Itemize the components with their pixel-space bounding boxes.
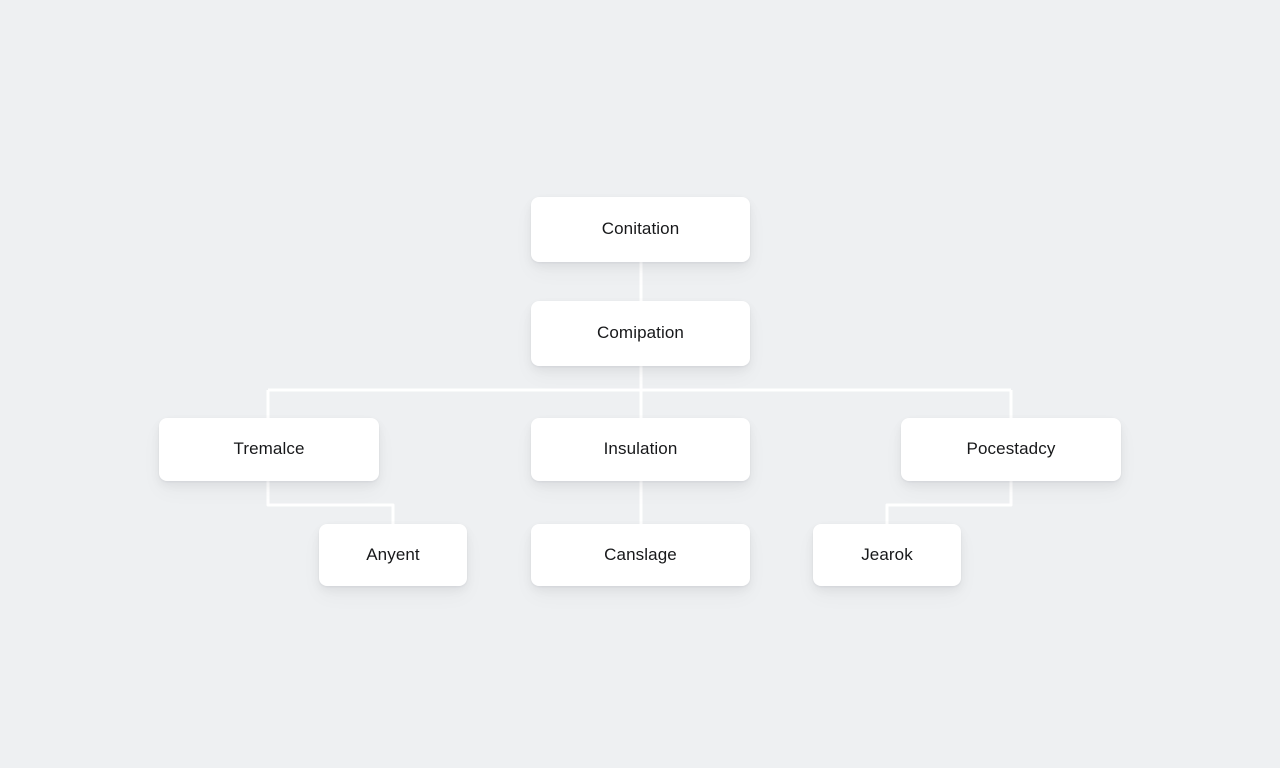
node-label: Tremalce: [233, 439, 304, 459]
node-tremalce[interactable]: Tremalce: [159, 418, 379, 481]
node-label: Canslage: [604, 545, 677, 565]
node-comipation[interactable]: Comipation: [531, 301, 750, 366]
node-conitation[interactable]: Conitation: [531, 197, 750, 262]
node-insulation[interactable]: Insulation: [531, 418, 750, 481]
node-canslage[interactable]: Canslage: [531, 524, 750, 586]
node-label: Anyent: [366, 545, 420, 565]
node-anyent[interactable]: Anyent: [319, 524, 467, 586]
node-label: Comipation: [597, 323, 684, 343]
node-label: Conitation: [602, 219, 680, 239]
node-label: Pocestadcy: [967, 439, 1056, 459]
node-label: Insulation: [604, 439, 678, 459]
node-pocestadcy[interactable]: Pocestadcy: [901, 418, 1121, 481]
node-jearok[interactable]: Jearok: [813, 524, 961, 586]
flowchart-canvas: Conitation Comipation Tremalce Insulatio…: [0, 0, 1280, 768]
node-label: Jearok: [861, 545, 913, 565]
node-layer: Conitation Comipation Tremalce Insulatio…: [0, 0, 1280, 768]
